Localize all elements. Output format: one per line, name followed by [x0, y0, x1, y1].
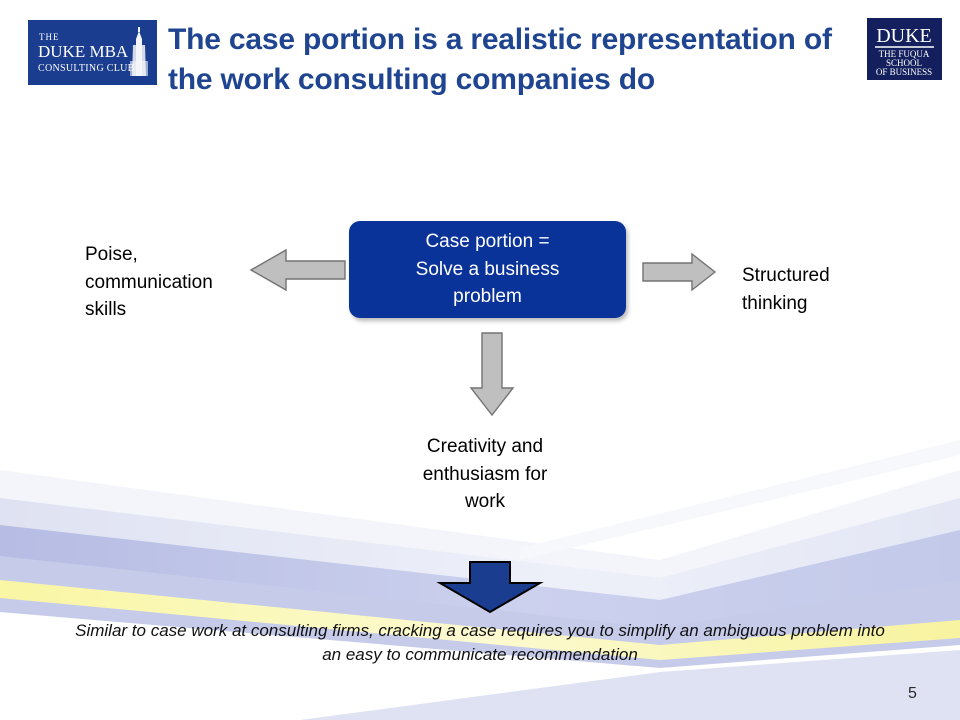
bg-band-highlight	[520, 440, 960, 560]
duke-mba-consulting-club-logo: THE DUKE MBA CONSULTING CLUB	[28, 20, 157, 85]
arrow-left-icon	[248, 244, 348, 294]
page-number: 5	[908, 685, 917, 703]
branch-label-right: Structured thinking	[742, 262, 932, 317]
center-concept-text: Case portion = Solve a business problem	[416, 228, 560, 311]
slide-title: The case portion is a realistic represen…	[168, 20, 868, 100]
fuqua-school-of-business-logo: DUKE THE FUQUA SCHOOL OF BUSINESS	[867, 18, 942, 80]
logo-right-line4: OF BUSINESS	[876, 67, 932, 77]
logo-left-line1: THE	[39, 32, 60, 42]
slide-canvas: THE DUKE MBA CONSULTING CLUB DUKE THE FU…	[0, 0, 960, 720]
logo-right-art: DUKE THE FUQUA SCHOOL OF BUSINESS	[867, 18, 942, 80]
center-concept-box: Case portion = Solve a business problem	[349, 221, 626, 318]
conclusion-arrow-icon	[434, 559, 546, 615]
logo-left-art: THE DUKE MBA CONSULTING CLUB	[29, 21, 156, 84]
logo-left-line3: CONSULTING CLUB	[38, 63, 135, 74]
branch-label-left: Poise, communication skills	[85, 241, 255, 324]
arrow-down-icon	[466, 330, 518, 418]
slide-caption: Similar to case work at consulting firms…	[75, 619, 885, 667]
arrow-right-icon	[640, 250, 718, 294]
logo-left-line2: DUKE MBA	[38, 42, 129, 61]
branch-label-bottom: Creativity and enthusiasm for work	[390, 433, 580, 516]
logo-right-line1: DUKE	[876, 25, 932, 47]
